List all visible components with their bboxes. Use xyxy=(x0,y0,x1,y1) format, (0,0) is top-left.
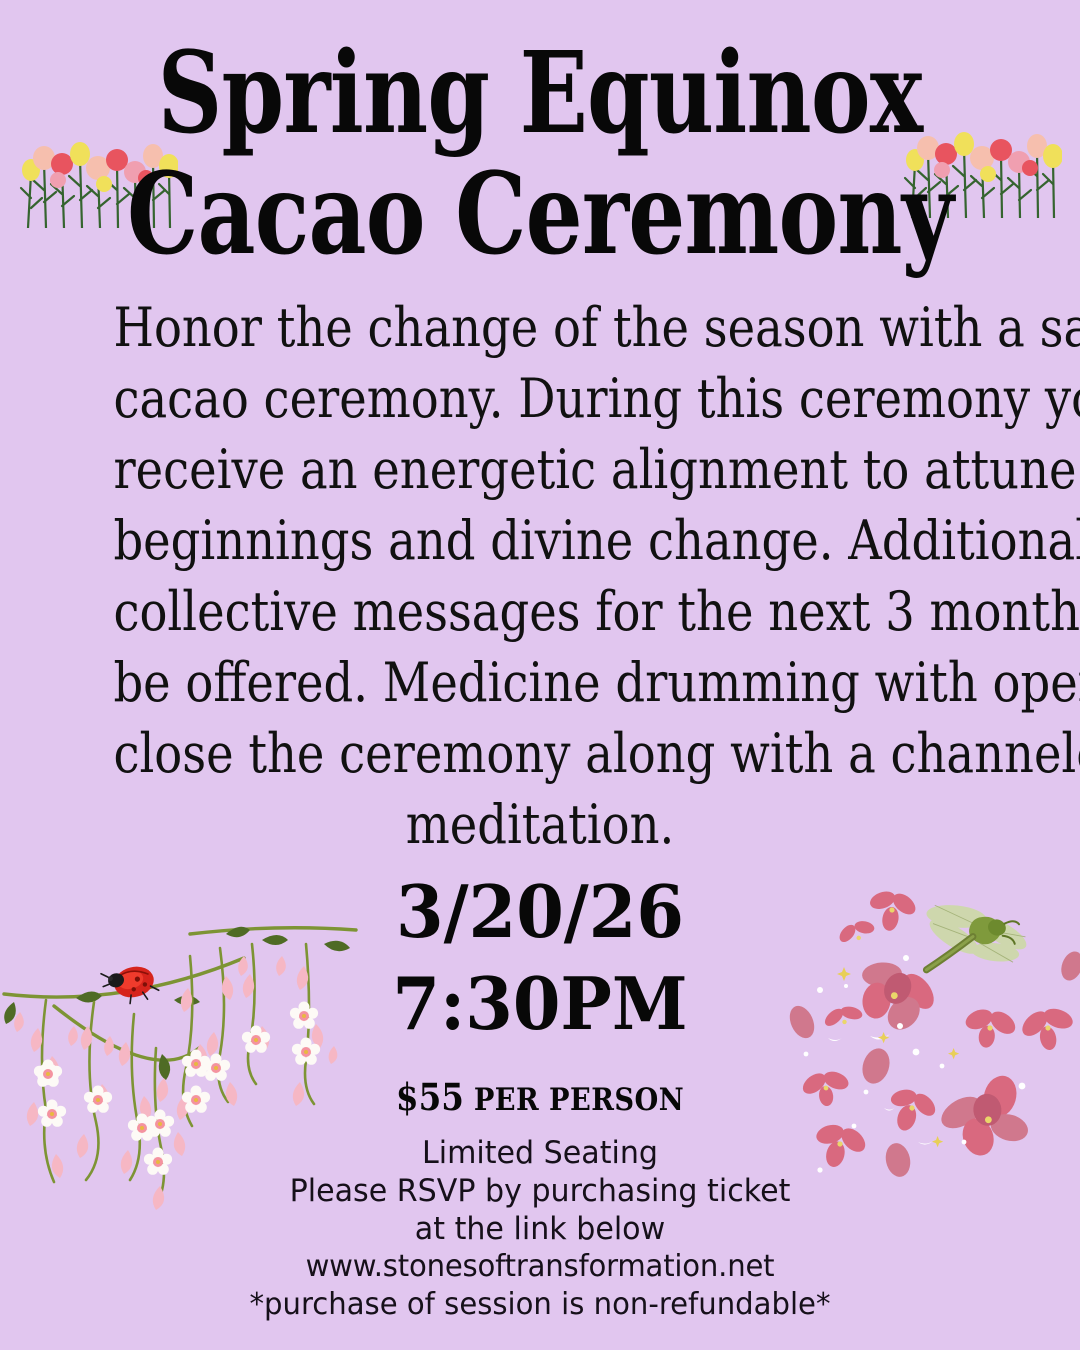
event-date: 3/20/26 xyxy=(27,866,1053,958)
seating-note: Limited Seating xyxy=(16,1134,1064,1172)
description-line: close the ceremony along with a channele… xyxy=(113,718,966,789)
refund-note: *purchase of session is non-refundable* xyxy=(16,1286,1064,1324)
event-datetime: 3/20/26 7:30PM xyxy=(0,866,1080,1050)
poster-description: Honor the change of the season with a sa… xyxy=(44,292,1036,860)
title-line-1: Spring Equinox xyxy=(108,34,972,155)
rsvp-line-1: Please RSVP by purchasing ticket xyxy=(16,1172,1064,1210)
price-amount: $55 xyxy=(396,1075,464,1119)
website-link[interactable]: www.stonesoftransformation.net xyxy=(16,1248,1064,1286)
description-line: collective messages for the next 3 month… xyxy=(113,576,966,647)
description-line: Honor the change of the season with a sa… xyxy=(113,292,966,363)
rsvp-line-2: at the link below xyxy=(16,1210,1064,1248)
price-suffix: PER PERSON xyxy=(464,1082,684,1118)
description-line: cacao ceremony. During this ceremony you… xyxy=(113,363,966,434)
event-details: $55 PER PERSON Limited Seating Please RS… xyxy=(0,1076,1080,1324)
description-line: be offered. Medicine drumming with open … xyxy=(113,647,966,718)
poster-title: Spring Equinox Cacao Ceremony xyxy=(0,34,1080,276)
description-line: receive an energetic alignment to attune… xyxy=(113,434,966,505)
title-line-2: Cacao Ceremony xyxy=(108,155,972,276)
event-time: 7:30PM xyxy=(27,958,1053,1050)
price-line: $55 PER PERSON xyxy=(65,1076,1015,1126)
poster-canvas: Spring Equinox Cacao Ceremony Honor the … xyxy=(0,0,1080,1350)
description-line: meditation. xyxy=(113,789,966,860)
description-line: beginnings and divine change. Additional… xyxy=(113,505,966,576)
